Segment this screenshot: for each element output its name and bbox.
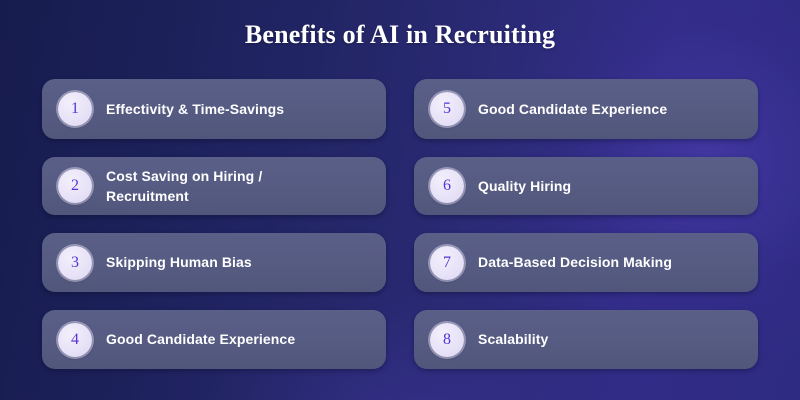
benefit-number-badge-1: 1: [58, 92, 92, 126]
benefit-label-5: Good Candidate Experience: [478, 99, 667, 119]
benefit-number-badge-2: 2: [58, 169, 92, 203]
benefit-label-2: Cost Saving on Hiring / Recruitment: [106, 166, 262, 207]
benefit-label-4: Good Candidate Experience: [106, 329, 295, 349]
benefit-label-1: Effectivity & Time-Savings: [106, 99, 284, 119]
benefit-card-1: 1 Effectivity & Time-Savings: [42, 79, 386, 139]
benefit-number-badge-8: 8: [430, 323, 464, 357]
benefit-card-2: 2 Cost Saving on Hiring / Recruitment: [42, 157, 386, 215]
page-title: Benefits of AI in Recruiting: [0, 20, 800, 50]
benefit-card-4: 4 Good Candidate Experience: [42, 310, 386, 369]
benefit-card-5: 5 Good Candidate Experience: [414, 79, 758, 139]
benefit-label-7: Data-Based Decision Making: [478, 252, 672, 272]
benefit-label-3: Skipping Human Bias: [106, 252, 252, 272]
benefit-card-3: 3 Skipping Human Bias: [42, 233, 386, 292]
benefit-number-badge-4: 4: [58, 323, 92, 357]
benefit-number-badge-7: 7: [430, 246, 464, 280]
benefit-card-8: 8 Scalability: [414, 310, 758, 369]
benefit-number-badge-3: 3: [58, 246, 92, 280]
benefits-infographic: Benefits of AI in Recruiting 1 Effectivi…: [0, 0, 800, 400]
benefit-number-badge-6: 6: [430, 169, 464, 203]
benefits-grid: 1 Effectivity & Time-Savings 2 Cost Savi…: [42, 79, 758, 371]
benefit-card-6: 6 Quality Hiring: [414, 157, 758, 215]
benefit-label-8: Scalability: [478, 329, 548, 349]
benefit-card-7: 7 Data-Based Decision Making: [414, 233, 758, 292]
benefit-label-6: Quality Hiring: [478, 176, 571, 196]
benefit-number-badge-5: 5: [430, 92, 464, 126]
